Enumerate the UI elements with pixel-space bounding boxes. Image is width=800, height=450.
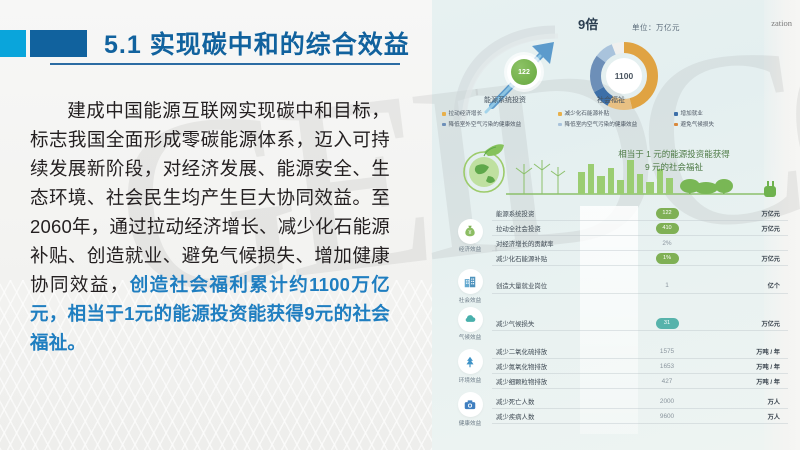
legend-swatch-icon — [558, 112, 562, 116]
metric-value: 1575 — [660, 348, 674, 355]
label-energy-system-investment: 能源系统投资 — [484, 95, 526, 105]
benefit-category-label: 健康效益 — [459, 419, 481, 427]
metric-value-cell: 31 — [624, 318, 710, 329]
page-title: 5.1 实现碳中和的综合效益 — [104, 25, 410, 61]
heading-underline — [50, 63, 400, 65]
table-row: 减少细颗粒物排放427万吨 / 年 — [492, 374, 788, 389]
benefit-category: 健康效益 — [448, 392, 492, 427]
legend-swatch-icon — [442, 123, 446, 127]
legend-label: 拉动经济增长 — [449, 110, 483, 119]
metric-unit: 万亿元 — [710, 319, 788, 328]
legend-item: 降低室内空气污染的健康效益 — [558, 121, 674, 130]
legend-label: 增加就业 — [681, 110, 703, 119]
benefit-category: 环境效益 — [448, 349, 492, 384]
benefit-category-label: 经济效益 — [459, 245, 481, 253]
metric-name: 减少氮氧化物排放 — [492, 362, 624, 371]
metric-name: 减少细颗粒物排放 — [492, 377, 624, 386]
slide-heading: 5.1 实现碳中和的综合效益 — [0, 26, 410, 60]
metric-value-pill: 122 — [656, 208, 679, 219]
legend-item: 降低室外空气污染的健康效益 — [442, 121, 558, 130]
metric-value-cell: 1% — [624, 253, 710, 264]
metric-value-cell: 2% — [624, 240, 710, 247]
metric-unit: 万吨 / 年 — [710, 347, 788, 356]
legend-label: 减少化石能源补贴 — [565, 110, 610, 119]
legend-label: 降低室外空气污染的健康效益 — [449, 121, 522, 130]
heading-accent-square-light — [0, 30, 26, 57]
metric-value-cell: 1 — [624, 282, 710, 289]
multiplier-label: 9倍 — [578, 14, 598, 33]
metric-value-cell: 9600 — [624, 413, 710, 420]
benefit-group: 健康效益减少死亡人数2000万人减少疾病人数9600万人 — [448, 392, 788, 427]
metric-unit: 万亿元 — [710, 254, 788, 263]
eco-caption-line-2: 9 元的社会福祉 — [584, 161, 764, 174]
metric-unit: 万吨 / 年 — [710, 362, 788, 371]
benefit-group: 环境效益减少二氧化硫排放1575万吨 / 年减少氮氧化物排放1653万吨 / 年… — [448, 344, 788, 389]
metric-name: 拉动全社会投资 — [492, 224, 624, 233]
metric-value: 1 — [665, 282, 669, 289]
metric-value-cell: 410 — [624, 223, 710, 234]
eco-caption: 相当于 1 元的能源投资能获得 9 元的社会福祉 — [584, 148, 764, 174]
infographic-panel: zation 9倍 单位：万亿元 1100 122 能源系统投资 社会福祉 — [432, 0, 800, 450]
table-row: 减少化石能源补贴1%万亿元 — [492, 251, 788, 266]
metric-value: 427 — [662, 378, 673, 385]
benefit-group: 社会效益创造大量就业岗位1亿个 — [448, 269, 788, 304]
donut-legend: 拉动经济增长 降低室外空气污染的健康效益 减少化石能源补贴 降低室内空气污染的健… — [442, 110, 790, 131]
metric-value-pill: 31 — [656, 318, 679, 329]
legend-label: 降低室内空气污染的健康效益 — [565, 121, 638, 130]
donut-center-value: 1100 — [615, 71, 633, 81]
unit-label: 单位：万亿元 — [632, 22, 680, 33]
benefit-category: ¥经济效益 — [448, 219, 492, 254]
body-paragraph: 建成中国能源互联网实现碳中和目标，标志我国全面形成零碳能源体系，迈入可持续发展新… — [30, 96, 390, 357]
metric-unit: 万人 — [710, 412, 788, 421]
metric-value-cell: 1575 — [624, 348, 710, 355]
legend-swatch-icon — [674, 123, 678, 127]
table-row: 创造大量就业岗位1亿个 — [492, 279, 788, 294]
slide-canvas: GEIDCO 5.1 实现碳中和的综合效益 建成中国能源互联网实现碳中和目标，标… — [0, 0, 800, 450]
legend-swatch-icon — [558, 123, 562, 127]
label-social-welfare: 社会福祉 — [597, 95, 625, 105]
metric-name: 创造大量就业岗位 — [492, 281, 624, 290]
money-bag-icon: ¥ — [458, 219, 483, 244]
metric-value: 2000 — [660, 398, 674, 405]
metric-value-cell: 2000 — [624, 398, 710, 405]
legend-column-3: 增加就业 避免气候损失 — [674, 110, 790, 131]
legend-swatch-icon — [674, 112, 678, 116]
cloud-icon — [458, 307, 483, 332]
metric-value-cell: 427 — [624, 378, 710, 385]
eco-caption-line-1: 相当于 1 元的能源投资能获得 — [584, 148, 764, 161]
benefit-rows: 能源系统投资122万亿元拉动全社会投资410万亿元对经济增长的贡献率2%减少化石… — [492, 206, 788, 266]
table-row: 减少氮氧化物排放1653万吨 / 年 — [492, 359, 788, 374]
metric-value-pill: 1% — [656, 253, 679, 264]
benefit-category-label: 社会效益 — [459, 296, 481, 304]
table-row: 减少死亡人数2000万人 — [492, 394, 788, 409]
table-row: 减少二氧化硫排放1575万吨 / 年 — [492, 344, 788, 359]
benefits-table: ¥经济效益能源系统投资122万亿元拉动全社会投资410万亿元对经济增长的贡献率2… — [448, 206, 788, 430]
legend-item: 拉动经济增长 — [442, 110, 558, 119]
metric-value-pill: 410 — [656, 223, 679, 234]
table-row: 减少气候损失31万亿元 — [492, 316, 788, 331]
heading-accent-square-dark — [30, 30, 87, 57]
metric-unit: 万亿元 — [710, 209, 788, 218]
benefit-group: ¥经济效益能源系统投资122万亿元拉动全社会投资410万亿元对经济增长的贡献率2… — [448, 206, 788, 266]
energy-investment-value: 122 — [511, 59, 537, 85]
metric-value-cell: 122 — [624, 208, 710, 219]
benefit-group: 气候效益减少气候损失31万亿元 — [448, 307, 788, 342]
legend-item: 减少化石能源补贴 — [558, 110, 674, 119]
metric-unit: 万吨 / 年 — [710, 377, 788, 386]
corner-organization-text: zation — [771, 18, 792, 28]
energy-investment-circle: 122 — [507, 55, 541, 89]
tree-icon — [458, 349, 483, 374]
legend-column-1: 拉动经济增长 降低室外空气污染的健康效益 — [442, 110, 558, 131]
benefit-rows: 减少二氧化硫排放1575万吨 / 年减少氮氧化物排放1653万吨 / 年减少细颗… — [492, 344, 788, 389]
table-row: 能源系统投资122万亿元 — [492, 206, 788, 221]
metric-name: 减少疾病人数 — [492, 412, 624, 421]
metric-unit: 万人 — [710, 397, 788, 406]
benefit-category: 社会效益 — [448, 269, 492, 304]
benefit-category-label: 气候效益 — [459, 333, 481, 341]
metric-name: 能源系统投资 — [492, 209, 624, 218]
svg-text:¥: ¥ — [469, 230, 472, 236]
metric-value: 9600 — [660, 413, 674, 420]
benefit-rows: 减少气候损失31万亿元 — [492, 316, 788, 331]
table-row: 拉动全社会投资410万亿元 — [492, 221, 788, 236]
health-camera-icon — [458, 392, 483, 417]
legend-swatch-icon — [442, 112, 446, 116]
metric-value: 2% — [662, 240, 671, 247]
benefit-rows: 减少死亡人数2000万人减少疾病人数9600万人 — [492, 394, 788, 424]
metric-name: 减少化石能源补贴 — [492, 254, 624, 263]
metric-name: 对经济增长的贡献率 — [492, 239, 624, 248]
benefit-category: 气候效益 — [448, 307, 492, 342]
metric-name: 减少二氧化硫排放 — [492, 347, 624, 356]
benefit-category-label: 环境效益 — [459, 376, 481, 384]
metric-value-cell: 1653 — [624, 363, 710, 370]
table-row: 减少疾病人数9600万人 — [492, 409, 788, 424]
table-row: 对经济增长的贡献率2% — [492, 236, 788, 251]
building-icon — [458, 269, 483, 294]
legend-item: 增加就业 — [674, 110, 790, 119]
legend-label: 避免气候损失 — [681, 121, 715, 130]
legend-column-2: 减少化石能源补贴 降低室内空气污染的健康效益 — [558, 110, 674, 131]
metric-unit: 亿个 — [710, 281, 788, 290]
legend-item: 避免气候损失 — [674, 121, 790, 130]
metric-name: 减少气候损失 — [492, 319, 624, 328]
metric-value: 1653 — [660, 363, 674, 370]
benefit-rows: 创造大量就业岗位1亿个 — [492, 279, 788, 294]
paragraph-plain-text: 建成中国能源互联网实现碳中和目标，标志我国全面形成零碳能源体系，迈入可持续发展新… — [30, 100, 390, 295]
metric-unit: 万亿元 — [710, 224, 788, 233]
metric-name: 减少死亡人数 — [492, 397, 624, 406]
